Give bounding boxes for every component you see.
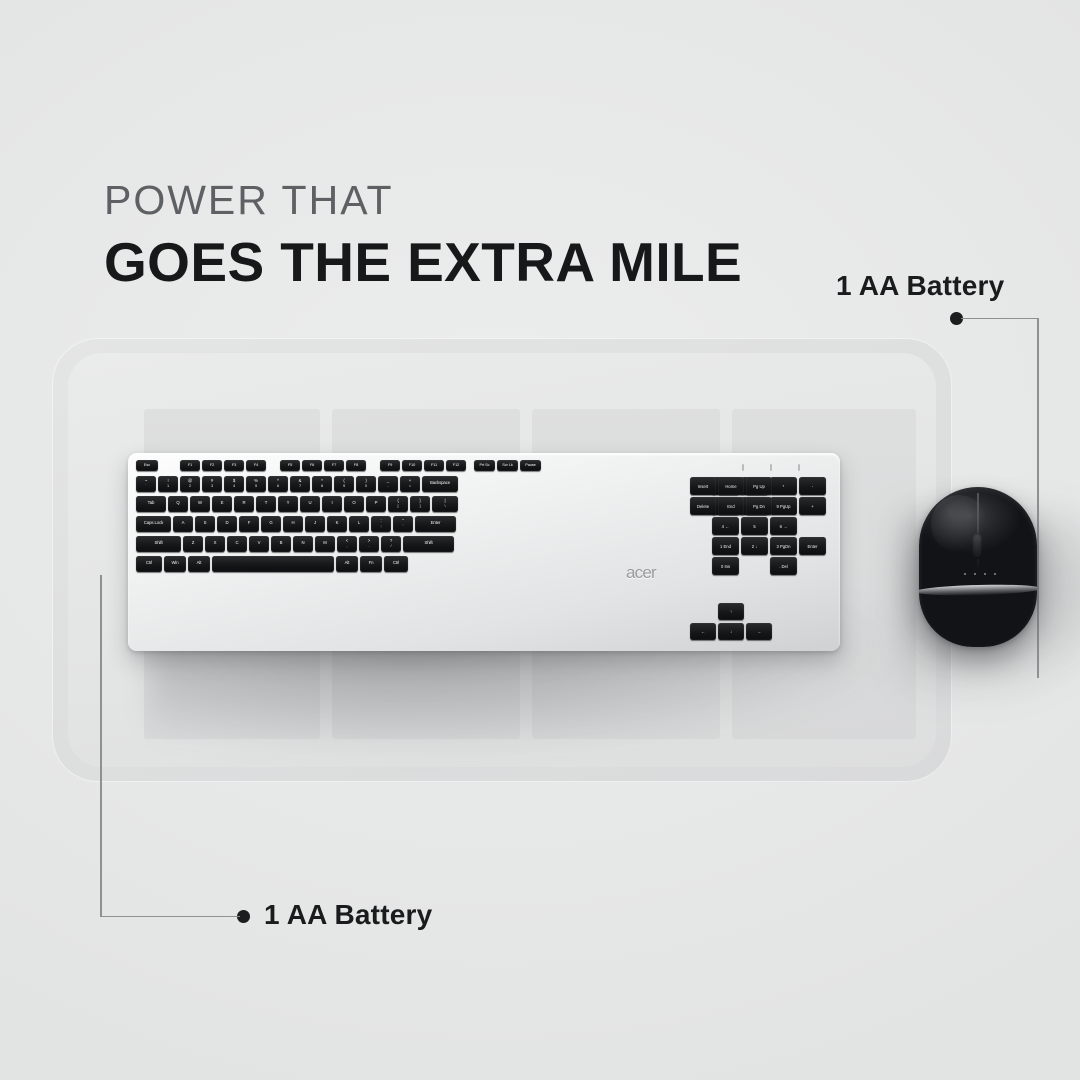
- keyboard-key: Ctrl: [384, 556, 408, 572]
- keyboard-arrow-key: ←: [690, 623, 716, 640]
- mouse-scroll-wheel: [972, 533, 982, 559]
- keyboard-key: F12: [446, 460, 466, 471]
- headline-line-1: POWER THAT: [104, 178, 742, 222]
- keyboard-key: Esc: [136, 460, 158, 471]
- keyboard-key: K: [327, 516, 347, 532]
- keyboard-key: {[: [388, 496, 408, 512]
- callout-leader-line-keyboard-vertical: [100, 575, 102, 917]
- keyboard-key: :;: [371, 516, 391, 532]
- keyboard-key: G: [261, 516, 281, 532]
- keyboard-key: H: [283, 516, 303, 532]
- keyboard-key: F10: [402, 460, 422, 471]
- keyboard-key: ^6: [268, 476, 288, 492]
- keyboard-key: F4: [246, 460, 266, 471]
- keyboard-key: F8: [346, 460, 366, 471]
- keyboard-key: #3: [202, 476, 222, 492]
- keyboard-key: L: [349, 516, 369, 532]
- keyboard-arrow-key: →: [746, 623, 772, 640]
- headline-line-2: GOES THE EXTRA MILE: [104, 232, 742, 294]
- acer-wireless-mouse: [919, 487, 1037, 647]
- callout-leader-line-keyboard-horizontal: [100, 916, 240, 918]
- keyboard-key: M: [315, 536, 335, 552]
- keyboard-key: A: [173, 516, 193, 532]
- keyboard-key: F9: [380, 460, 400, 471]
- keyboard-key: }]: [410, 496, 430, 512]
- keyboard-key: )0: [356, 476, 376, 492]
- keyboard-key: Y: [278, 496, 298, 512]
- keyboard-led-indicator: [798, 464, 800, 471]
- keyboard-key: <,: [337, 536, 357, 552]
- keyboard-key: Pause: [520, 460, 541, 471]
- keyboard-key: F1: [180, 460, 200, 471]
- keyboard-key: Z: [183, 536, 203, 552]
- numpad-key: 6 →: [770, 517, 797, 535]
- numpad-key: 2 ↓: [741, 537, 768, 555]
- keyboard-key: Q: [168, 496, 188, 512]
- callout-label-keyboard-battery: 1 AA Battery: [264, 899, 432, 931]
- keyboard-key: F3: [224, 460, 244, 471]
- callout-leader-line-mouse-vertical: [1037, 318, 1039, 678]
- numpad-key: -: [799, 477, 826, 495]
- keyboard-key: R: [234, 496, 254, 512]
- keyboard-key: F5: [280, 460, 300, 471]
- callout-label-mouse-battery: 1 AA Battery: [836, 270, 1004, 302]
- keyboard-key: Fn: [360, 556, 382, 572]
- keyboard-key: @2: [180, 476, 200, 492]
- keyboard-key: J: [305, 516, 325, 532]
- keyboard-key: Alt: [188, 556, 210, 572]
- keyboard-key: Tab: [136, 496, 166, 512]
- keyboard-key: P: [366, 496, 386, 512]
- keyboard-key: *8: [312, 476, 332, 492]
- acer-brand-logo: acer: [626, 563, 656, 583]
- keyboard-key: N: [293, 536, 313, 552]
- keyboard-key: Ctrl: [136, 556, 162, 572]
- numpad-key: +: [799, 497, 826, 515]
- keyboard-row-function: EscF1F2F3F4F5F6F7F8F9F10F11F12Prt ScScr …: [136, 460, 832, 473]
- keyboard-key: C: [227, 536, 247, 552]
- numpad-key: 0 Ins: [712, 557, 739, 575]
- numpad-key: 3 PgDn: [770, 537, 797, 555]
- keyboard-key: &7: [290, 476, 310, 492]
- keyboard-nav-key: End: [718, 497, 744, 515]
- keyboard-key: T: [256, 496, 276, 512]
- mouse-accent-band: [919, 583, 1037, 596]
- numpad-key: . Del: [770, 557, 797, 575]
- keyboard-arrow-key: ↓: [718, 623, 744, 640]
- product-banner-canvas: POWER THAT GOES THE EXTRA MILE 1 AA Batt…: [0, 0, 1080, 1080]
- keyboard-key: Alt: [336, 556, 358, 572]
- keyboard-key: ~`: [136, 476, 156, 492]
- callout-leader-line-mouse-horizontal: [961, 318, 1039, 320]
- keyboard-key: +=: [400, 476, 420, 492]
- keyboard-key: F11: [424, 460, 444, 471]
- keyboard-nav-key: Delete: [690, 497, 716, 515]
- numpad-row: 1 End2 ↓3 PgDnEnter: [712, 537, 832, 555]
- keyboard-key: F: [239, 516, 259, 532]
- keyboard-key: Enter: [415, 516, 456, 532]
- keyboard-key: !1: [158, 476, 178, 492]
- keyboard-led-indicator: [742, 464, 744, 471]
- numpad-key: 1 End: [712, 537, 739, 555]
- keyboard-key: F7: [324, 460, 344, 471]
- keyboard-key: Caps Lock: [136, 516, 171, 532]
- keyboard-key: O: [344, 496, 364, 512]
- keyboard-nav-key: Home: [718, 477, 744, 495]
- keyboard-key: (9: [334, 476, 354, 492]
- keyboard-key: S: [195, 516, 215, 532]
- keyboard-key: Shift: [136, 536, 181, 552]
- numpad-key: *: [770, 477, 797, 495]
- numpad-row: 4 ←56 →: [712, 517, 832, 535]
- keyboard-key: Prt Sc: [474, 460, 495, 471]
- keyboard-nav-key: Pg Up: [746, 477, 772, 495]
- keyboard-key: V: [249, 536, 269, 552]
- keyboard-nav-key: Insert: [690, 477, 716, 495]
- mouse-texture-dots: [961, 571, 997, 577]
- acer-wireless-keyboard: EscF1F2F3F4F5F6F7F8F9F10F11F12Prt ScScr …: [128, 453, 840, 651]
- numpad-key: Enter: [799, 537, 826, 555]
- keyboard-key: F2: [202, 460, 222, 471]
- numpad-key: 5: [741, 517, 768, 535]
- keyboard-key: I: [322, 496, 342, 512]
- keyboard-key: "': [393, 516, 413, 532]
- keyboard-arrow-key: ↑: [718, 603, 744, 620]
- keyboard-nav-key: Pg Dn: [746, 497, 772, 515]
- numpad-key: 9 PgUp: [770, 497, 797, 515]
- keyboard-led-indicator: [770, 464, 772, 471]
- keyboard-key: X: [205, 536, 225, 552]
- keyboard-key: |\: [432, 496, 458, 512]
- keyboard-key: B: [271, 536, 291, 552]
- keyboard-key: Scr Lk: [497, 460, 518, 471]
- keyboard-key: $4: [224, 476, 244, 492]
- keyboard-key: Backspace: [422, 476, 458, 492]
- keyboard-key: %5: [246, 476, 266, 492]
- keyboard-key: [212, 556, 334, 572]
- keyboard-key: U: [300, 496, 320, 512]
- keyboard-key: >.: [359, 536, 379, 552]
- keyboard-key: ?/: [381, 536, 401, 552]
- keyboard-key: D: [217, 516, 237, 532]
- keyboard-key: Shift: [403, 536, 454, 552]
- keyboard-key: _-: [378, 476, 398, 492]
- numpad-row: 0 Ins. Del: [712, 557, 832, 575]
- keyboard-key: F6: [302, 460, 322, 471]
- numpad-key: 4 ←: [712, 517, 739, 535]
- keyboard-key: E: [212, 496, 232, 512]
- keyboard-key: W: [190, 496, 210, 512]
- keyboard-key: Win: [164, 556, 186, 572]
- headline-block: POWER THAT GOES THE EXTRA MILE: [104, 178, 742, 294]
